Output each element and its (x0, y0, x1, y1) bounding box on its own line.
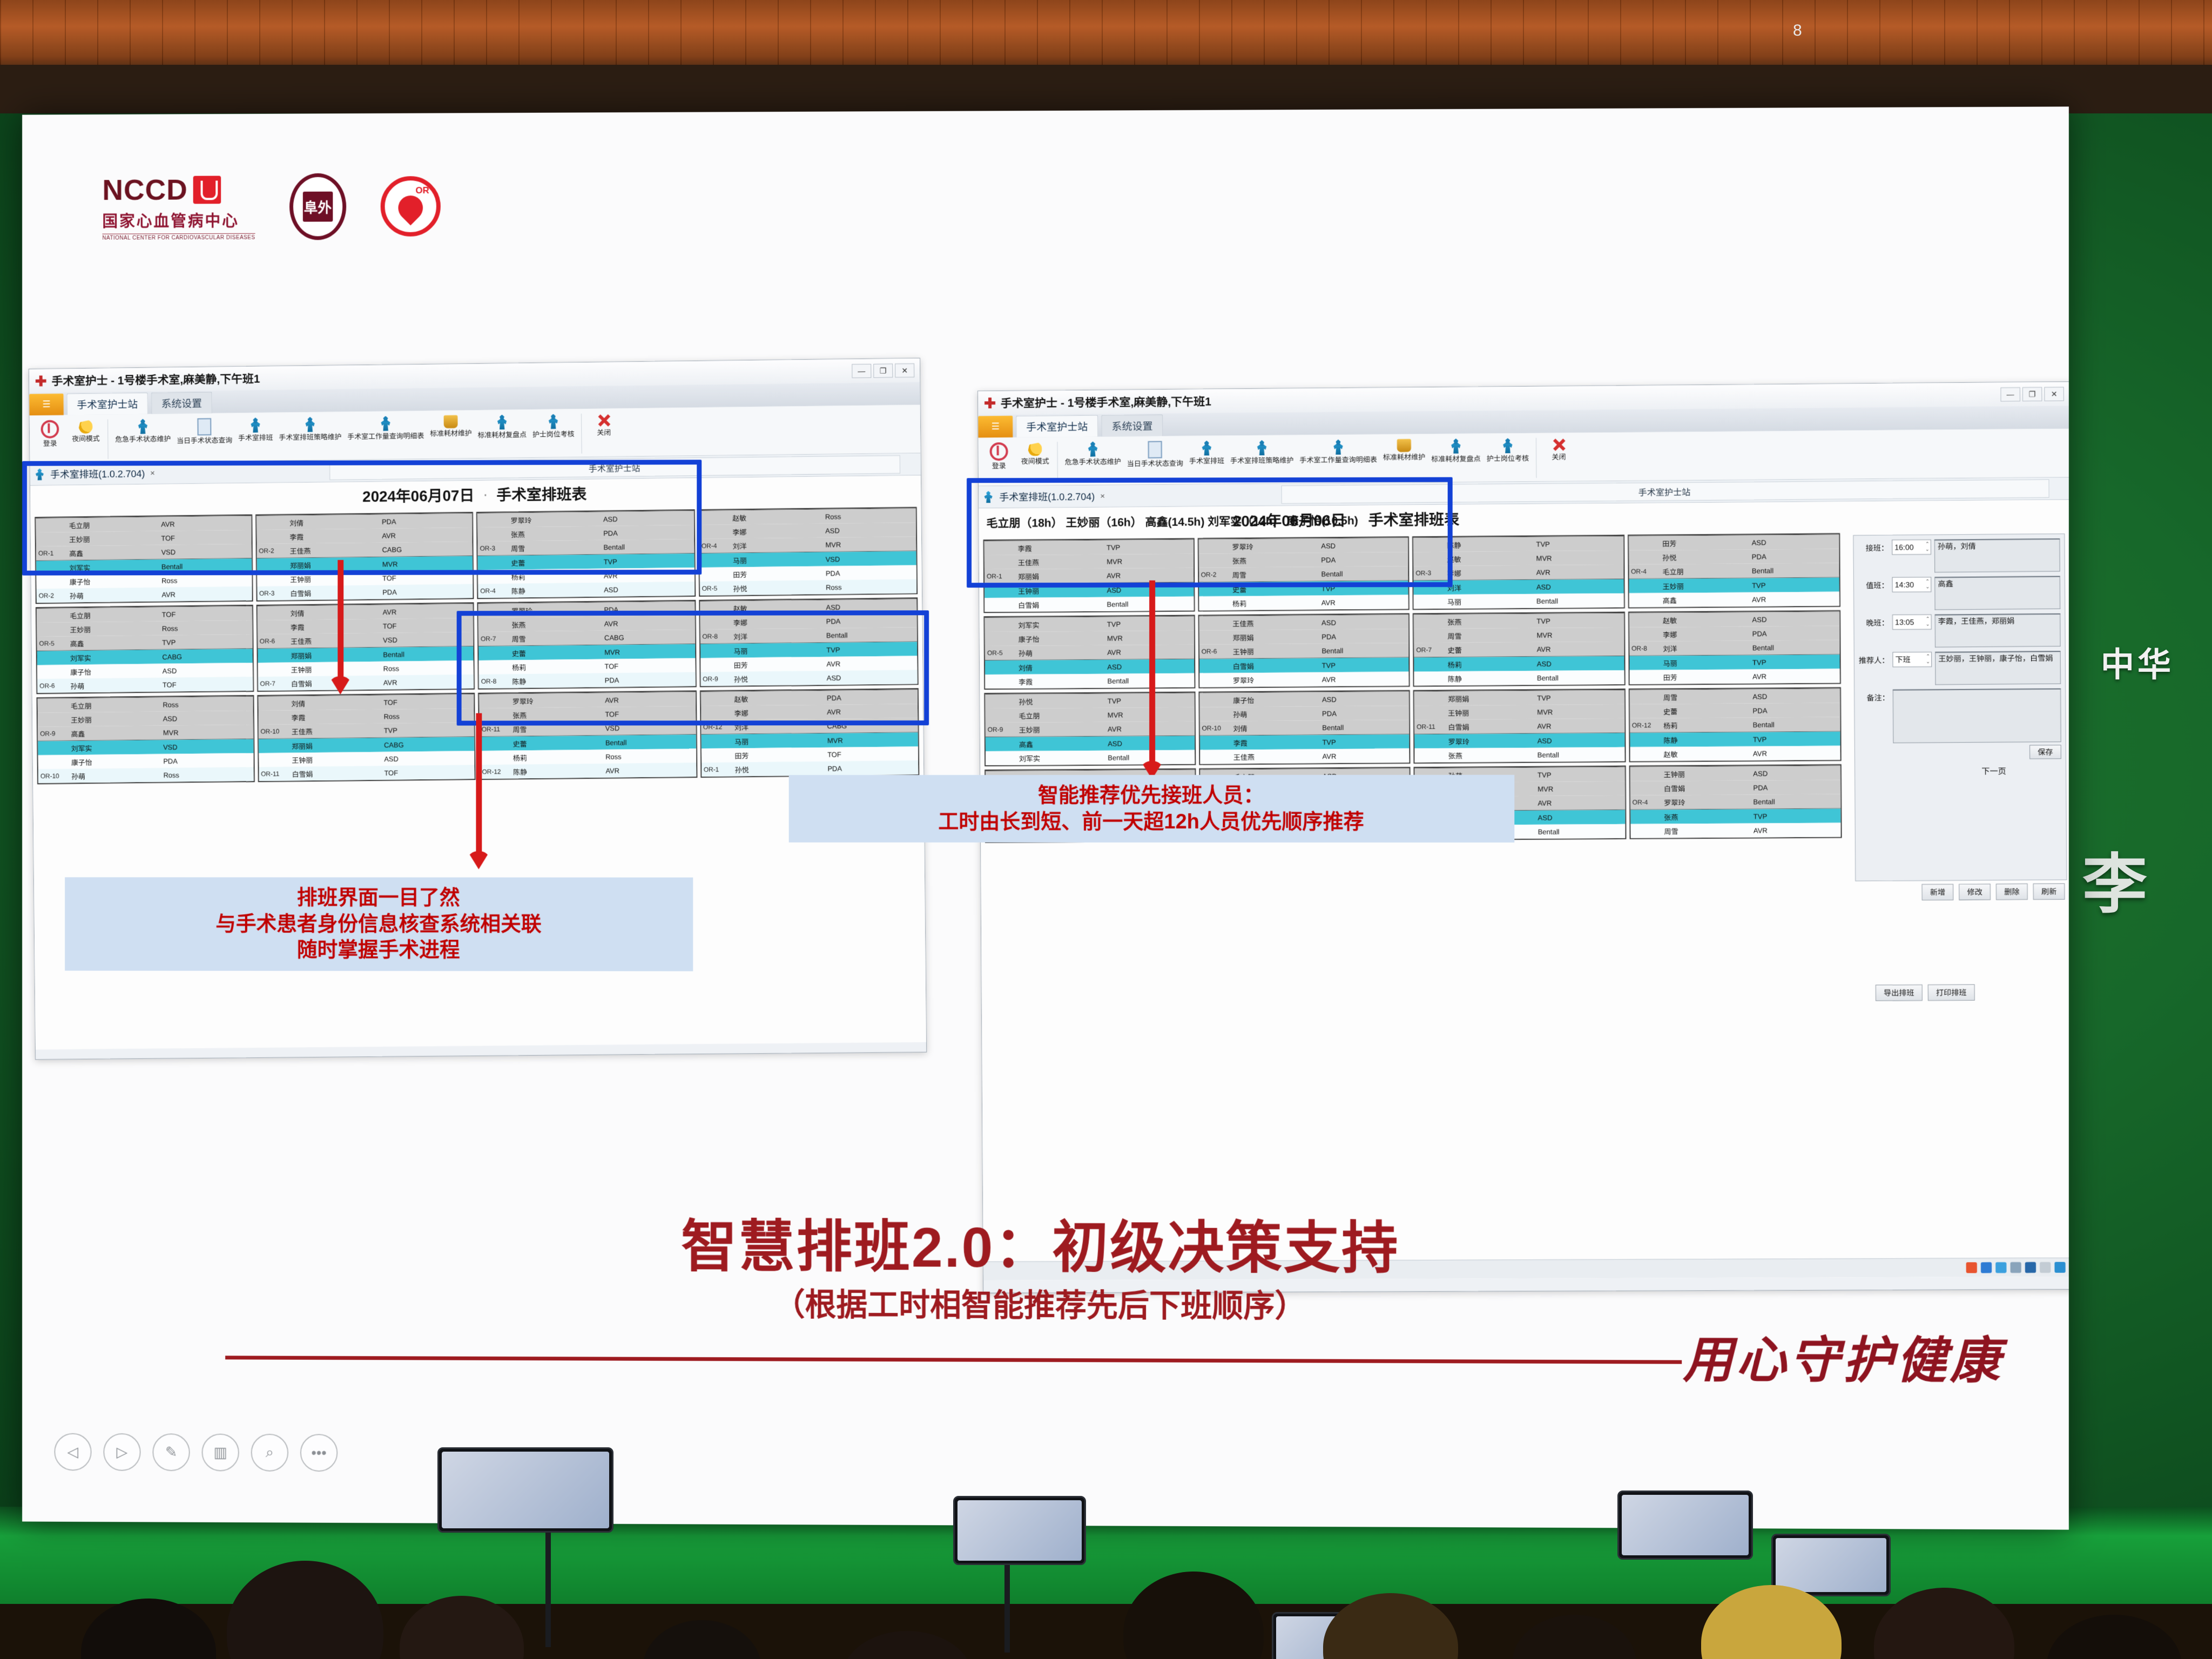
schedule-row[interactable]: OR-9王妙丽AVR (986, 721, 1195, 737)
room-code: OR-9 (700, 675, 732, 684)
operation-code: TVP (824, 644, 917, 655)
toolbar-button-9[interactable]: 标准耗材复盘点 (475, 413, 529, 440)
room-code: OR-8 (479, 677, 510, 686)
schedule-row[interactable]: 赵敏MVR (1413, 550, 1623, 566)
stop-icon (41, 420, 59, 439)
subtab-schedule[interactable]: 手术室排班(1.0.2.704) × (999, 489, 1105, 504)
schedule-row[interactable]: 王钟丽ASD (259, 751, 475, 767)
nurse-name: 李霞 (289, 711, 382, 723)
toolbar-button-label: 当日手术状态查询 (1127, 460, 1183, 467)
schedule-row[interactable]: OR-8刘洋Bentall (1629, 640, 1840, 656)
toolbar-button-4[interactable]: 当日手术状态查询 (1125, 440, 1185, 469)
operation-code: MVR (1105, 633, 1194, 643)
schedule-row[interactable]: 刘军实VSD (38, 739, 253, 756)
close-button[interactable]: ✕ (895, 363, 914, 377)
schedule-row[interactable]: OR-3白雪娟PDA (257, 584, 473, 600)
nurse-name: 郑丽娟 (288, 649, 381, 661)
form-row-label: 值班： (1858, 577, 1889, 591)
person-icon (136, 419, 149, 434)
schedule-cell[interactable]: 王钟丽ASD白雪娟PDAOR-4罗翠玲Bentall张燕TVP周雪AVR (1629, 764, 1842, 839)
operation-code: PDA (1751, 783, 1840, 792)
cell-section-current: 郑丽娟TVP王钟丽MVROR-11白雪娟AVR (1414, 690, 1624, 734)
schedule-cell[interactable]: 张燕TVP周雪MVROR-7史蕾AVR杨莉ASD陈静Bentall (1413, 612, 1625, 687)
schedule-row[interactable]: OR-8陈静PDA (479, 672, 696, 689)
schedule-row[interactable]: 史蕾Bentall (480, 734, 696, 751)
room-code: OR-11 (480, 725, 511, 734)
schedule-row[interactable]: 毛立朋Ross (37, 697, 253, 713)
form-value-field[interactable]: 王妙丽，王钟丽，康子怡，白雪娟 (1935, 651, 2061, 685)
schedule-row[interactable]: 白雪娟TVP (1199, 658, 1409, 673)
form-value-field[interactable]: 李霞，王佳燕，郑丽娟 (1935, 613, 2061, 648)
title-divider-rule (225, 1355, 1682, 1364)
toolbar-button-label: 夜间模式 (72, 435, 100, 443)
room-code: OR-5 (700, 584, 731, 593)
operation-code: ASD (161, 713, 253, 723)
nurse-name: 王佳燕 (1230, 617, 1319, 629)
nurse-name: 罗翠玲 (509, 514, 601, 526)
nurse-name: 陈静 (1445, 538, 1534, 550)
operation-code: TOF (159, 532, 251, 543)
schedule-row[interactable]: OR-11白雪娟TOF (259, 765, 475, 781)
nurse-name: 杨莉 (511, 751, 603, 764)
schedule-row[interactable]: OR-6王钟丽Bentall (1199, 643, 1409, 659)
schedule-row[interactable]: 刘倩TOF (258, 694, 474, 711)
cell-section-current: 刘倩PDA李霞AVROR-2王佳燕CABG (257, 513, 473, 558)
schedule-row[interactable]: OR-2周雪Bentall (1199, 566, 1408, 582)
operation-code: TVP (602, 556, 694, 567)
toolbar-button-5[interactable]: 手术室排班 (236, 416, 275, 443)
schedule-row[interactable]: 周雪ASD (1629, 689, 1840, 704)
schedule-row[interactable]: 高鑫AVR (1629, 592, 1839, 608)
schedule-row[interactable]: 王钟丽MVR (1414, 704, 1624, 720)
minimize-button[interactable]: — (2000, 387, 2020, 401)
schedule-row[interactable]: OR-4罗翠玲Bentall (1630, 794, 1841, 810)
zoom-tool-button[interactable]: ⌕ (251, 1434, 288, 1472)
schedule-cell[interactable]: 罗翠玲ASD张燕PDAOR-3周雪Bentall史蕾TVP杨莉AVROR-4陈静… (476, 509, 696, 599)
cell-section-current: 刘军实TVP康子怡MVROR-5孙萌AVR (985, 616, 1194, 660)
schedule-row[interactable]: 罗翠玲ASD (1198, 538, 1408, 554)
nurse-name: 高鑫 (67, 547, 159, 559)
schedule-row[interactable]: 郑丽娟CABG (259, 737, 475, 753)
schedule-row[interactable]: 张燕TVP (1630, 808, 1841, 824)
schedule-row[interactable]: 周雪MVR (1414, 628, 1624, 643)
schedule-row[interactable]: 白雪娟Bentall (984, 596, 1193, 612)
room-code (1199, 589, 1230, 590)
toolbar-button-label: 登录 (992, 462, 1006, 470)
nurse-name: 王佳燕 (289, 725, 382, 737)
schedule-row[interactable]: OR-5孙萌AVR (985, 644, 1194, 660)
schedule-row[interactable]: 罗翠玲ASD (1414, 733, 1624, 748)
room-code (1199, 665, 1231, 666)
room-code (985, 638, 1016, 639)
operation-code: TVP (1535, 770, 1624, 779)
operation-code: Bentall (824, 630, 917, 640)
save-button[interactable]: 保存 (2029, 745, 2061, 759)
cell-section-current: 刘倩AVR李霞TOFOR-6王佳燕VSD (257, 603, 473, 648)
schedule-row[interactable]: 孙萌PDA (1199, 706, 1409, 721)
export-button-2[interactable]: 打印排班 (1928, 984, 1975, 1001)
room-code: OR-10 (38, 772, 69, 780)
toolbar-button-6[interactable]: 手术室排班策略维护 (1228, 439, 1296, 466)
form-row-1: 接班：16:00孙萌，刘倩 (1858, 538, 2060, 573)
room-code (700, 664, 732, 666)
ribbon-tab-settings[interactable]: 系统设置 (1101, 415, 1163, 437)
pen-tool-button[interactable]: ✎ (152, 1433, 190, 1471)
toolbar-button-3[interactable]: 危急手术状态维护 (113, 417, 173, 444)
schedule-row[interactable]: 马丽MVR (701, 732, 918, 748)
schedule-cell[interactable]: 罗翠玲ASD张燕PDAOR-2周雪Bentall史蕾TVP杨莉AVR (1197, 536, 1409, 611)
schedule-row[interactable]: 高鑫ASD (986, 736, 1195, 752)
schedule-cell[interactable]: 刘倩PDA李霞AVROR-2王佳燕CABG郑丽娟MVR王钟丽TOFOR-3白雪娟… (255, 512, 474, 602)
schedule-cell[interactable]: 陈静TVP赵敏MVROR-3李娜AVR刘洋ASD马丽Bentall (1412, 535, 1624, 610)
schedule-row[interactable]: 罗翠玲AVR (1199, 672, 1409, 687)
schedule-cell[interactable]: 罗翠玲PDA张燕AVROR-7周雪CABG史蕾MVR杨莉TOFOR-8陈静PDA (477, 600, 696, 690)
toolbar-button-8[interactable]: 标准耗材维护 (428, 414, 474, 439)
schedule-cell[interactable]: 罗翠玲AVR张燕TOFOR-11周雪VSD史蕾Bentall杨莉RossOR-1… (478, 691, 697, 780)
toolbar-button-10[interactable]: 护士岗位考核 (1485, 437, 1532, 463)
nurse-name: 康子怡 (68, 665, 160, 678)
room-code (1629, 619, 1661, 621)
toolbar-button-10[interactable]: 护士岗位考核 (530, 413, 577, 440)
schedule-row[interactable]: 周雪AVR (1630, 822, 1841, 838)
schedule-row[interactable]: 刘军实TVP (985, 616, 1194, 632)
schedule-row[interactable]: 田芳ASD (1629, 535, 1839, 550)
toolbar-button-3[interactable]: 危急手术状态维护 (1062, 440, 1123, 467)
schedule-row[interactable]: 刘军实Bentall (986, 750, 1195, 766)
schedule-row[interactable]: 孙悦PDA (1629, 549, 1839, 564)
subtab-close-icon[interactable]: × (1100, 491, 1105, 501)
form-row-label: 晚班： (1858, 615, 1889, 629)
maximize-button[interactable]: ❐ (873, 363, 893, 377)
schedule-row[interactable]: 杨莉Ross (480, 748, 696, 765)
nurse-name: 王妙丽 (68, 623, 160, 635)
ribbon-tab-nurse-station[interactable]: 手术室护士站 (1016, 415, 1098, 437)
schedule-row[interactable]: 史蕾PDA (1630, 703, 1840, 718)
operation-code: PDA (1319, 631, 1408, 641)
operation-code: AVR (380, 530, 472, 540)
operation-code: TVP (1534, 539, 1623, 549)
schedule-cell[interactable]: 康子怡ASD孙萌PDAOR-10刘倩Bentall李霞TVP王佳燕AVR (1198, 690, 1410, 765)
schedule-row[interactable]: OR-7史蕾AVR (1414, 642, 1624, 657)
toolbar-button-label: 手术室排班策略维护 (1230, 457, 1293, 465)
schedule-cell[interactable]: 赵敏ASD李娜PDAOR-8刘洋Bentall马丽TVP田芳AVR (1628, 610, 1840, 685)
toolbar-button-4[interactable]: 当日手术状态查询 (174, 417, 234, 446)
presenter-controls: ◁▷✎▥⌕••• (54, 1433, 338, 1472)
ribbon-tab-nurse-station[interactable]: 手术室护士站 (66, 393, 148, 415)
shift-detail-form[interactable]: 接班：16:00孙萌，刘倩值班：14:30高鑫晚班：13:05李霞，王佳燕，郑丽… (1853, 534, 2067, 881)
operation-code: TOF (381, 621, 473, 631)
schedule-row[interactable]: 赵敏PDA (700, 690, 918, 706)
nurse-name: 马丽 (1661, 657, 1750, 669)
toolbar-button-2[interactable]: 夜间模式 (69, 419, 103, 444)
schedule-cell[interactable]: 刘军实TVP康子怡MVROR-5孙萌AVR刘倩ASD李霞Bentall (984, 615, 1196, 690)
schedule-cell[interactable]: 刘倩TOF李霞RossOR-10王佳燕TVP郑丽娟CABG王钟丽ASDOR-11… (257, 693, 476, 782)
schedule-row[interactable]: OR-7白雪娟AVR (258, 675, 474, 691)
schedule-row[interactable]: 王佳燕MVR (984, 554, 1193, 569)
schedule-cell[interactable]: 王佳燕ASD郑丽娟PDAOR-6王钟丽Bentall白雪娟TVP罗翠玲AVR (1198, 613, 1410, 688)
ribbon-tab-settings[interactable]: 系统设置 (151, 392, 212, 414)
schedule-cell[interactable]: 周雪ASD史蕾PDAOR-12杨莉Bentall陈静TVP赵敏AVR (1628, 687, 1841, 762)
form-row-3: 晚班：13:05李霞，王佳燕，郑丽娟 (1858, 613, 2060, 648)
left-window-title: 手术室护士 - 1号楼手术室,麻美静,下午班1 (51, 370, 260, 389)
wall-text-secondary: 李 (2082, 832, 2147, 926)
toolbar-button-1[interactable]: 登录 (982, 441, 1016, 471)
schedule-row[interactable]: 李娜PDA (1629, 626, 1840, 642)
schedule-row[interactable]: OR-4陈静ASD (478, 582, 694, 598)
form-value-field[interactable] (1893, 689, 2061, 744)
callout-left-line2: 与手术患者身份信息核查系统相关联 (79, 911, 679, 938)
nurse-name: 罗翠玲 (1230, 540, 1319, 552)
schedule-row[interactable]: 张燕PDA (1199, 552, 1408, 568)
record-action-button-2[interactable]: 修改 (1959, 884, 1991, 900)
record-action-button-1[interactable]: 新增 (1922, 884, 1954, 900)
schedule-row[interactable]: OR-4毛立朋Bentall (1629, 563, 1839, 578)
operation-code: ASD (601, 514, 694, 524)
schedule-row[interactable]: 王妙丽TVP (1629, 577, 1839, 593)
slide-grid-button[interactable]: ▥ (202, 1434, 239, 1472)
room-code (1199, 679, 1231, 680)
schedule-row[interactable]: 李霞Bentall (985, 673, 1194, 689)
nurse-name: 杨莉 (509, 570, 602, 582)
schedule-row[interactable]: OR-1孙悦PDA (702, 760, 919, 777)
callout-right-line2: 工时由长到短、前一天超12h人员优先顺序推荐 (803, 809, 1501, 835)
schedule-row[interactable]: 陈静Bentall (1414, 670, 1624, 686)
schedule-row[interactable]: 李霞TVP (1200, 734, 1410, 750)
schedule-row[interactable]: OR-2孙萌AVR (37, 586, 252, 603)
operation-code: AVR (1320, 751, 1410, 761)
schedule-cell[interactable]: 赵敏ASD李娜PDAOR-8刘洋Bentall马丽TVP田芳AVROR-9孙悦A… (699, 597, 919, 687)
record-action-button-4[interactable]: 刷新 (2033, 884, 2065, 900)
next-slide-button[interactable]: ▷ (103, 1433, 140, 1471)
room-code (984, 590, 1016, 591)
next-page-link[interactable]: 下一页 (1981, 765, 2006, 777)
schedule-row[interactable]: 白雪娟PDA (1630, 780, 1840, 795)
form-value-field[interactable]: 孙萌，刘倩 (1934, 538, 2060, 572)
schedule-cell[interactable]: 赵敏PDA李娜AVROR-12刘洋CABG马丽MVR田芳TOFOR-1孙悦PDA (699, 688, 919, 778)
time-spinner[interactable]: 13:05 (1892, 615, 1932, 630)
schedule-row[interactable]: OR-3李娜AVR (1413, 564, 1623, 580)
cell-section-next: 罗翠玲ASD张燕Bentall (1414, 732, 1624, 763)
schedule-row[interactable]: 陈静TVP (1413, 536, 1623, 552)
cell-section-next: 史蕾MVR杨莉TOFOR-8陈静PDA (478, 644, 695, 689)
schedule-cell[interactable]: 田芳ASD孙悦PDAOR-4毛立朋Bentall王妙丽TVP高鑫AVR (1628, 533, 1840, 608)
person-icon (1255, 440, 1268, 455)
schedule-row[interactable]: 田芳AVR (1629, 669, 1840, 684)
nurse-name: 李娜 (730, 525, 823, 537)
toolbar-button-6[interactable]: 手术室排班策略维护 (276, 415, 343, 442)
operation-code: TVP (1319, 583, 1408, 593)
cell-section-next: 李霞TVP王佳燕AVR (1200, 734, 1410, 764)
nurse-name: 康子怡 (69, 756, 161, 768)
schedule-cell[interactable]: 刘倩AVR李霞TOFOR-6王佳燕VSD郑丽娟Bentall王钟丽RossOR-… (256, 602, 475, 692)
subtab-schedule[interactable]: 手术室排班(1.0.2.704) × (50, 466, 155, 481)
room-code: OR-11 (1414, 722, 1446, 731)
room-code (479, 714, 510, 716)
schedule-row[interactable]: 李娜AVR (701, 704, 918, 720)
operation-code: Bentall (1105, 752, 1195, 762)
operation-code: MVR (602, 646, 695, 657)
toolbar-button-label: 手术室排班 (238, 434, 273, 442)
toolbar-button-1[interactable]: 登录 (33, 419, 68, 448)
operation-code: AVR (1105, 724, 1195, 733)
schedule-cell[interactable]: 毛立朋AVR王妙丽TOFOR-1高鑫VSD刘军实Bentall康子怡RossOR… (35, 515, 253, 604)
operation-code: AVR (603, 765, 696, 775)
schedule-cell[interactable]: 毛立朋TOF王妙丽RossOR-5高鑫TVP刘军实CABG康子怡ASDOR-6孙… (36, 605, 254, 694)
time-spinner[interactable]: 下班 (1892, 652, 1932, 667)
form-row-label: 备注： (1859, 690, 1890, 704)
form-value-field[interactable]: 高鑫 (1934, 576, 2060, 610)
phone-screen-2 (957, 1500, 1082, 1561)
schedule-cell[interactable]: 李霞TVP王佳燕MVROR-1郑丽娟AVR王钟丽ASD白雪娟Bentall (983, 538, 1195, 613)
person-icon (1087, 442, 1100, 457)
room-code (984, 548, 1016, 549)
operation-code: AVR (602, 570, 694, 580)
schedule-row[interactable]: 田芳TOF (701, 746, 918, 763)
export-button-1[interactable]: 导出排班 (1876, 984, 1923, 1001)
nurse-name: 罗翠玲 (1446, 735, 1535, 747)
form-action-buttons: 新增修改删除刷新 (1922, 884, 2065, 901)
schedule-row[interactable]: 康子怡PDA (38, 753, 253, 770)
schedule-row[interactable]: 康子怡ASD (1199, 692, 1409, 707)
schedule-row[interactable]: OR-11周雪VSD (480, 720, 696, 736)
schedule-row[interactable]: 王妙丽ASD (38, 711, 253, 727)
office-menu-button[interactable]: ☰ (978, 416, 1013, 438)
schedule-row[interactable]: 杨莉AVR (1199, 595, 1408, 610)
schedule-row[interactable]: 孙悦TVP (985, 693, 1194, 709)
schedule-row[interactable]: 刘洋ASD (1413, 579, 1623, 595)
close-button[interactable]: ✕ (2044, 387, 2064, 401)
toolbar-button-7[interactable]: 手术室工作量查询明细表 (345, 414, 426, 441)
schedule-row[interactable]: OR-1郑丽娟AVR (984, 568, 1193, 583)
more-options-button[interactable]: ••• (300, 1434, 338, 1472)
operation-code: AVR (1104, 570, 1193, 580)
schedule-row[interactable]: OR-12陈静AVR (480, 763, 696, 779)
nurse-name: 孙悦 (1660, 551, 1750, 563)
office-menu-button[interactable]: ☰ (29, 394, 64, 416)
room-code (1629, 585, 1660, 586)
nccd-english-name: NATIONAL CENTER FOR CARDIOVASCULAR DISEA… (102, 233, 255, 241)
nurse-name: 陈静 (511, 765, 603, 777)
schedule-cell[interactable]: 赵敏Ross李娜ASDOR-4刘洋MVR马丽VSD田芳PDAOR-5孙悦Ross (698, 507, 918, 597)
cell-section-next: 郑丽娟MVR王钟丽TOFOR-3白雪娟PDA (257, 556, 473, 601)
schedule-row[interactable]: OR-10王佳燕TVP (258, 723, 474, 739)
schedule-row[interactable]: OR-9孙悦ASD (700, 670, 918, 686)
schedule-row[interactable]: 王佳燕ASD (1199, 615, 1408, 631)
schedule-row[interactable]: 毛立朋MVR (986, 707, 1195, 723)
operation-code: PDA (602, 604, 694, 614)
room-code (1630, 816, 1662, 817)
operation-code: TOF (381, 697, 474, 707)
room-code: OR-11 (259, 770, 290, 778)
schedule-row[interactable]: OR-5孙悦Ross (699, 579, 916, 595)
prev-slide-button[interactable]: ◁ (54, 1433, 91, 1471)
schedule-row[interactable]: 赵敏ASD (1629, 612, 1840, 628)
schedule-cell[interactable]: 郑丽娟TVP王钟丽MVROR-11白雪娟AVR罗翠玲ASD张燕Bentall (1413, 689, 1626, 764)
schedule-row[interactable]: 郑丽娟TVP (1414, 690, 1624, 706)
schedule-row[interactable]: OR-12杨莉Bentall (1630, 717, 1840, 733)
toolbar-button-11[interactable]: 关闭 (1541, 436, 1576, 462)
callout-left: 排班界面一目了然 与手术患者身份信息核查系统相关联 随时掌握手术进程 (65, 877, 693, 971)
operation-code: TVP (160, 637, 252, 647)
toolbar-button-11[interactable]: 关闭 (586, 412, 621, 437)
cell-section-current: 赵敏Ross李娜ASDOR-4刘洋MVR (699, 508, 916, 553)
schedule-row[interactable]: 张燕TVP (1414, 613, 1624, 629)
operation-code: AVR (602, 618, 695, 628)
maximize-button[interactable]: ❐ (2022, 387, 2042, 401)
schedule-row[interactable]: 张燕Bentall (1414, 747, 1624, 763)
subtab-close-icon[interactable]: × (150, 468, 155, 477)
room-code (1200, 742, 1231, 743)
nurse-name: 刘军实 (67, 561, 159, 574)
room-code: OR-3 (1413, 569, 1445, 577)
record-action-button-3[interactable]: 删除 (1996, 884, 2028, 900)
toolbar-button-9[interactable]: 标准耗材复盘点 (1429, 437, 1483, 464)
nurse-name: 毛立朋 (67, 518, 159, 531)
schedule-row[interactable]: 郑丽娟PDA (1199, 629, 1408, 645)
nurse-name: 赵敏 (1445, 552, 1534, 564)
toolbar-button-8[interactable]: 标准耗材维护 (1381, 438, 1428, 462)
room-code (478, 576, 509, 578)
schedule-row[interactable]: 王钟丽ASD (1630, 766, 1840, 781)
cell-section-current: 毛立朋TOF王妙丽RossOR-5高鑫TVP (37, 606, 252, 651)
schedule-row[interactable]: 王钟丽ASD (984, 582, 1193, 598)
schedule-row[interactable]: OR-11白雪娟AVR (1414, 718, 1624, 734)
schedule-row[interactable]: OR-10孙萌Ross (38, 767, 254, 783)
schedule-row[interactable]: 马丽Bentall (1414, 594, 1624, 609)
nurse-name: 田芳 (1661, 671, 1751, 683)
toolbar-button-5[interactable]: 手术室排班 (1187, 440, 1226, 466)
schedule-row[interactable]: 史蕾TVP (1199, 581, 1408, 596)
schedule-row[interactable]: 张燕TOF (479, 706, 696, 722)
operation-code: Bentall (159, 561, 252, 571)
room-code (1414, 601, 1445, 602)
nurse-name: 刘军实 (68, 651, 160, 664)
schedule-row[interactable]: OR-12刘洋CABG (701, 718, 918, 734)
schedule-row[interactable]: OR-10刘倩Bentall (1199, 720, 1409, 736)
schedule-row[interactable]: 杨莉ASD (1414, 656, 1624, 672)
right-window-title: 手术室护士 - 1号楼手术室,麻美静,下午班1 (1001, 393, 1211, 411)
nurse-name: 马丽 (731, 554, 824, 566)
room-code (700, 608, 731, 609)
toolbar-button-2[interactable]: 夜间模式 (1017, 441, 1052, 466)
schedule-row[interactable]: OR-9高鑫MVR (38, 725, 253, 741)
schedule-row[interactable]: 刘倩ASD (985, 659, 1194, 675)
schedule-row[interactable]: 王佳燕AVR (1200, 748, 1410, 764)
left-schedule-grid[interactable]: 毛立朋AVR王妙丽TOFOR-1高鑫VSD刘军实Bentall康子怡RossOR… (30, 503, 923, 787)
room-code (1414, 587, 1445, 588)
room-code (480, 757, 511, 759)
time-spinner[interactable]: 16:00 (1892, 539, 1931, 555)
schedule-row[interactable]: 李霞TVP (984, 539, 1193, 555)
schedule-row[interactable]: 李霞Ross (258, 709, 474, 725)
time-spinner[interactable]: 14:30 (1892, 577, 1932, 592)
toolbar-button-7[interactable]: 手术室工作量查询明细表 (1297, 438, 1379, 465)
moon-icon (1028, 442, 1042, 456)
right-window-controls: — ❐ ✕ (2000, 387, 2063, 401)
schedule-row[interactable]: 马丽TVP (1629, 655, 1840, 670)
schedule-row[interactable]: OR-6孙萌TOF (37, 677, 253, 693)
minimize-button[interactable]: — (852, 364, 871, 378)
schedule-row[interactable]: 陈静TVP (1630, 732, 1840, 747)
room-code: OR-9 (986, 725, 1017, 734)
schedule-row[interactable]: 赵敏AVR (1630, 746, 1840, 761)
schedule-row[interactable]: 罗翠玲AVR (479, 692, 696, 709)
schedule-cell[interactable]: 毛立朋Ross王妙丽ASDOR-9高鑫MVR刘军实VSD康子怡PDAOR-10孙… (36, 695, 254, 784)
operation-code: MVR (1535, 707, 1624, 717)
schedule-row[interactable]: 康子怡MVR (985, 630, 1194, 646)
schedule-cell[interactable]: 孙悦TVP毛立朋MVROR-9王妙丽AVR高鑫ASD刘军实Bentall (984, 692, 1196, 767)
nurse-name: 康子怡 (1231, 693, 1320, 705)
